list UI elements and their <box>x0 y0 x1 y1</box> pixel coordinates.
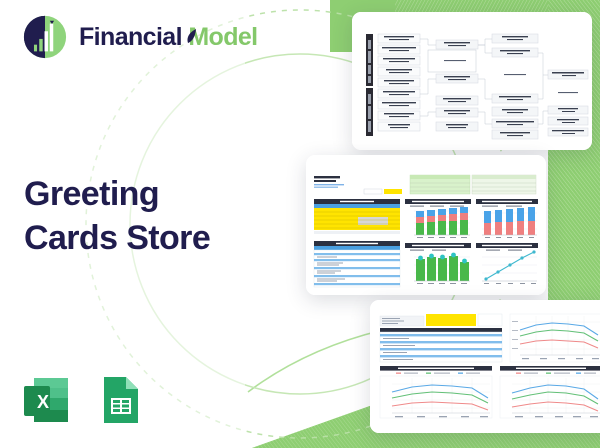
ratio-tree-sidebars <box>366 34 373 136</box>
stacked-bars <box>416 207 468 235</box>
ratio-tree-screenshot[interactable] <box>352 12 592 150</box>
profitability-chart <box>476 199 538 240</box>
cumulative-payback-chart <box>476 243 538 287</box>
sheets-file-icon[interactable] <box>94 374 146 426</box>
pie-bar-chart-logo-icon <box>22 14 68 60</box>
line-charts-screenshot[interactable] <box>370 300 600 433</box>
ebitda-overheads-chart <box>380 366 492 418</box>
file-format-icons: X <box>20 374 146 426</box>
brand-name: Financial Model <box>79 23 258 52</box>
page-title-line1: Greeting <box>24 172 210 216</box>
brand-logo[interactable]: Financial Model <box>22 14 258 60</box>
cash-flow-chart <box>405 243 471 287</box>
revenue-margin-chart <box>510 314 600 362</box>
page-title: Greeting Cards Store <box>24 172 210 260</box>
brand-name-part1: Financial <box>79 23 188 51</box>
chart-legend-bottom-right <box>516 373 596 374</box>
yearly-revenue-chart <box>405 199 471 240</box>
excel-file-icon[interactable]: X <box>20 374 72 426</box>
page-title-line2: Cards Store <box>24 216 210 260</box>
dashboard-screenshot[interactable] <box>306 155 546 295</box>
brand-name-part2: Model <box>188 23 257 51</box>
svg-text:X: X <box>37 392 49 412</box>
charts-input-table <box>380 314 502 362</box>
chart-legend-bottom-left <box>396 373 480 374</box>
leaf-icon <box>186 29 198 46</box>
cost-inputs-panel <box>314 199 400 234</box>
ratio-tree-column-1 <box>378 34 420 131</box>
core-financials-panel <box>314 241 400 287</box>
dashboard-top-tables <box>410 175 536 194</box>
